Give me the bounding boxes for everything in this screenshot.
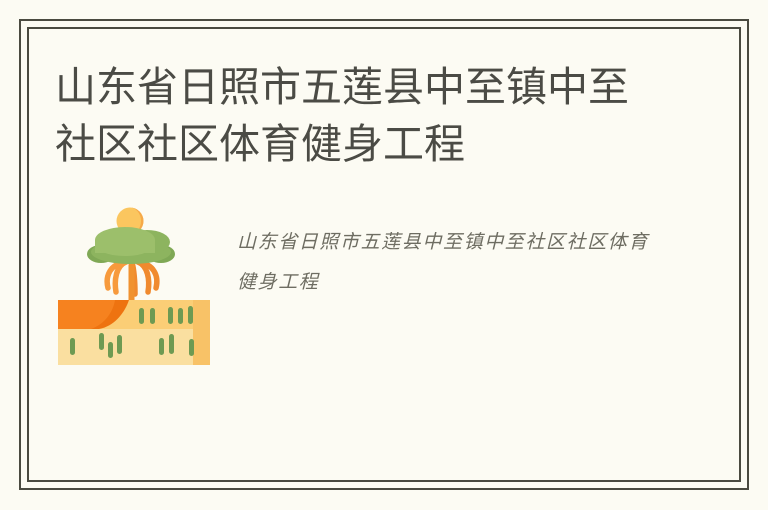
page-title: 山东省日照市五莲县中至镇中至社区社区体育健身工程 <box>55 55 655 172</box>
body-row: 山东省日照市五莲县中至镇中至社区社区体育健身工程 <box>55 200 675 365</box>
content-area: 山东省日照市五莲县中至镇中至社区社区体育健身工程 <box>55 55 675 455</box>
description-text: 山东省日照市五莲县中至镇中至社区社区体育健身工程 <box>237 200 657 303</box>
ground-illustration <box>58 300 210 365</box>
poster-page: 山东省日照市五莲县中至镇中至社区社区体育健身工程 <box>0 0 768 510</box>
illustration-tree-on-hillside-with-sun <box>55 200 215 365</box>
